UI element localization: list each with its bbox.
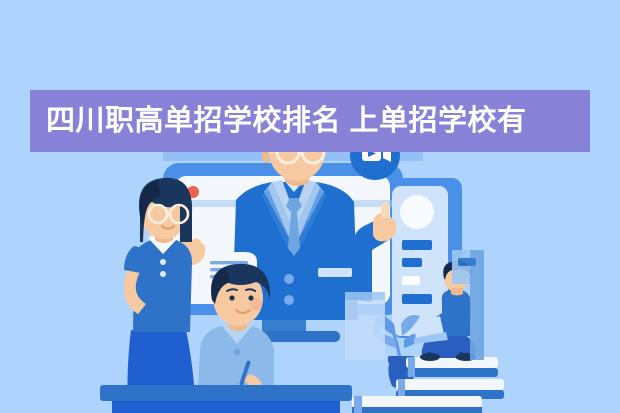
illustration-online-education (0, 0, 620, 413)
title-banner: 四川职高单招学校排名 上单招学校有 (30, 90, 590, 152)
screenshot-stage: 四川职高单招学校排名 上单招学校有 (0, 0, 620, 413)
background-shelf (345, 292, 385, 360)
banner-title-text: 四川职高单招学校排名 上单招学校有 (46, 107, 527, 136)
desk-graphic (100, 385, 352, 413)
